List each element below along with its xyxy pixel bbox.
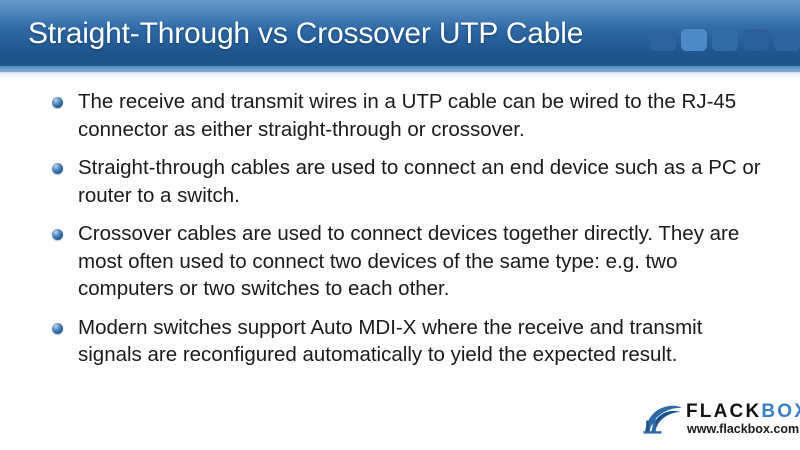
bullet-item: Crossover cables are used to connect dev… xyxy=(52,220,768,303)
slide-canvas: Straight-Through vs Crossover UTP Cable … xyxy=(0,0,800,450)
wordmark-box: BOX xyxy=(761,401,800,422)
flackbox-bridge-icon xyxy=(643,402,683,434)
bullet-item-text: The receive and transmit wires in a UTP … xyxy=(78,88,768,143)
logo-url-text: www.flackbox.com xyxy=(687,422,799,437)
sphere-bullet-icon xyxy=(52,97,63,108)
sphere-bullet-icon xyxy=(52,229,63,240)
header-decorative-squares xyxy=(650,29,800,51)
decor-square-5 xyxy=(774,29,800,51)
bullet-item: The receive and transmit wires in a UTP … xyxy=(52,88,768,143)
bullet-item-text: Crossover cables are used to connect dev… xyxy=(78,220,768,303)
sphere-bullet-icon xyxy=(52,323,63,334)
slide-title: Straight-Through vs Crossover UTP Cable xyxy=(28,14,583,54)
wordmark-flack: FLACK xyxy=(686,401,761,422)
bullet-item: Straight-through cables are used to conn… xyxy=(52,154,768,209)
slide-body-bullet-list: The receive and transmit wires in a UTP … xyxy=(52,88,768,380)
bullet-item-text: Modern switches support Auto MDI-X where… xyxy=(78,314,768,369)
flackbox-wordmark: FLACKBOX xyxy=(686,401,800,423)
header-bottom-fade xyxy=(0,66,800,78)
bullet-item: Modern switches support Auto MDI-X where… xyxy=(52,314,768,369)
decor-square-2 xyxy=(681,29,707,51)
slide-header-band: Straight-Through vs Crossover UTP Cable xyxy=(0,0,800,72)
decor-square-4 xyxy=(743,29,769,51)
bullet-item-text: Straight-through cables are used to conn… xyxy=(78,154,768,209)
decor-square-1 xyxy=(650,29,676,51)
sphere-bullet-icon xyxy=(52,163,63,174)
decor-square-3 xyxy=(712,29,738,51)
flackbox-logo: FLACKBOX www.flackbox.com xyxy=(643,400,793,440)
